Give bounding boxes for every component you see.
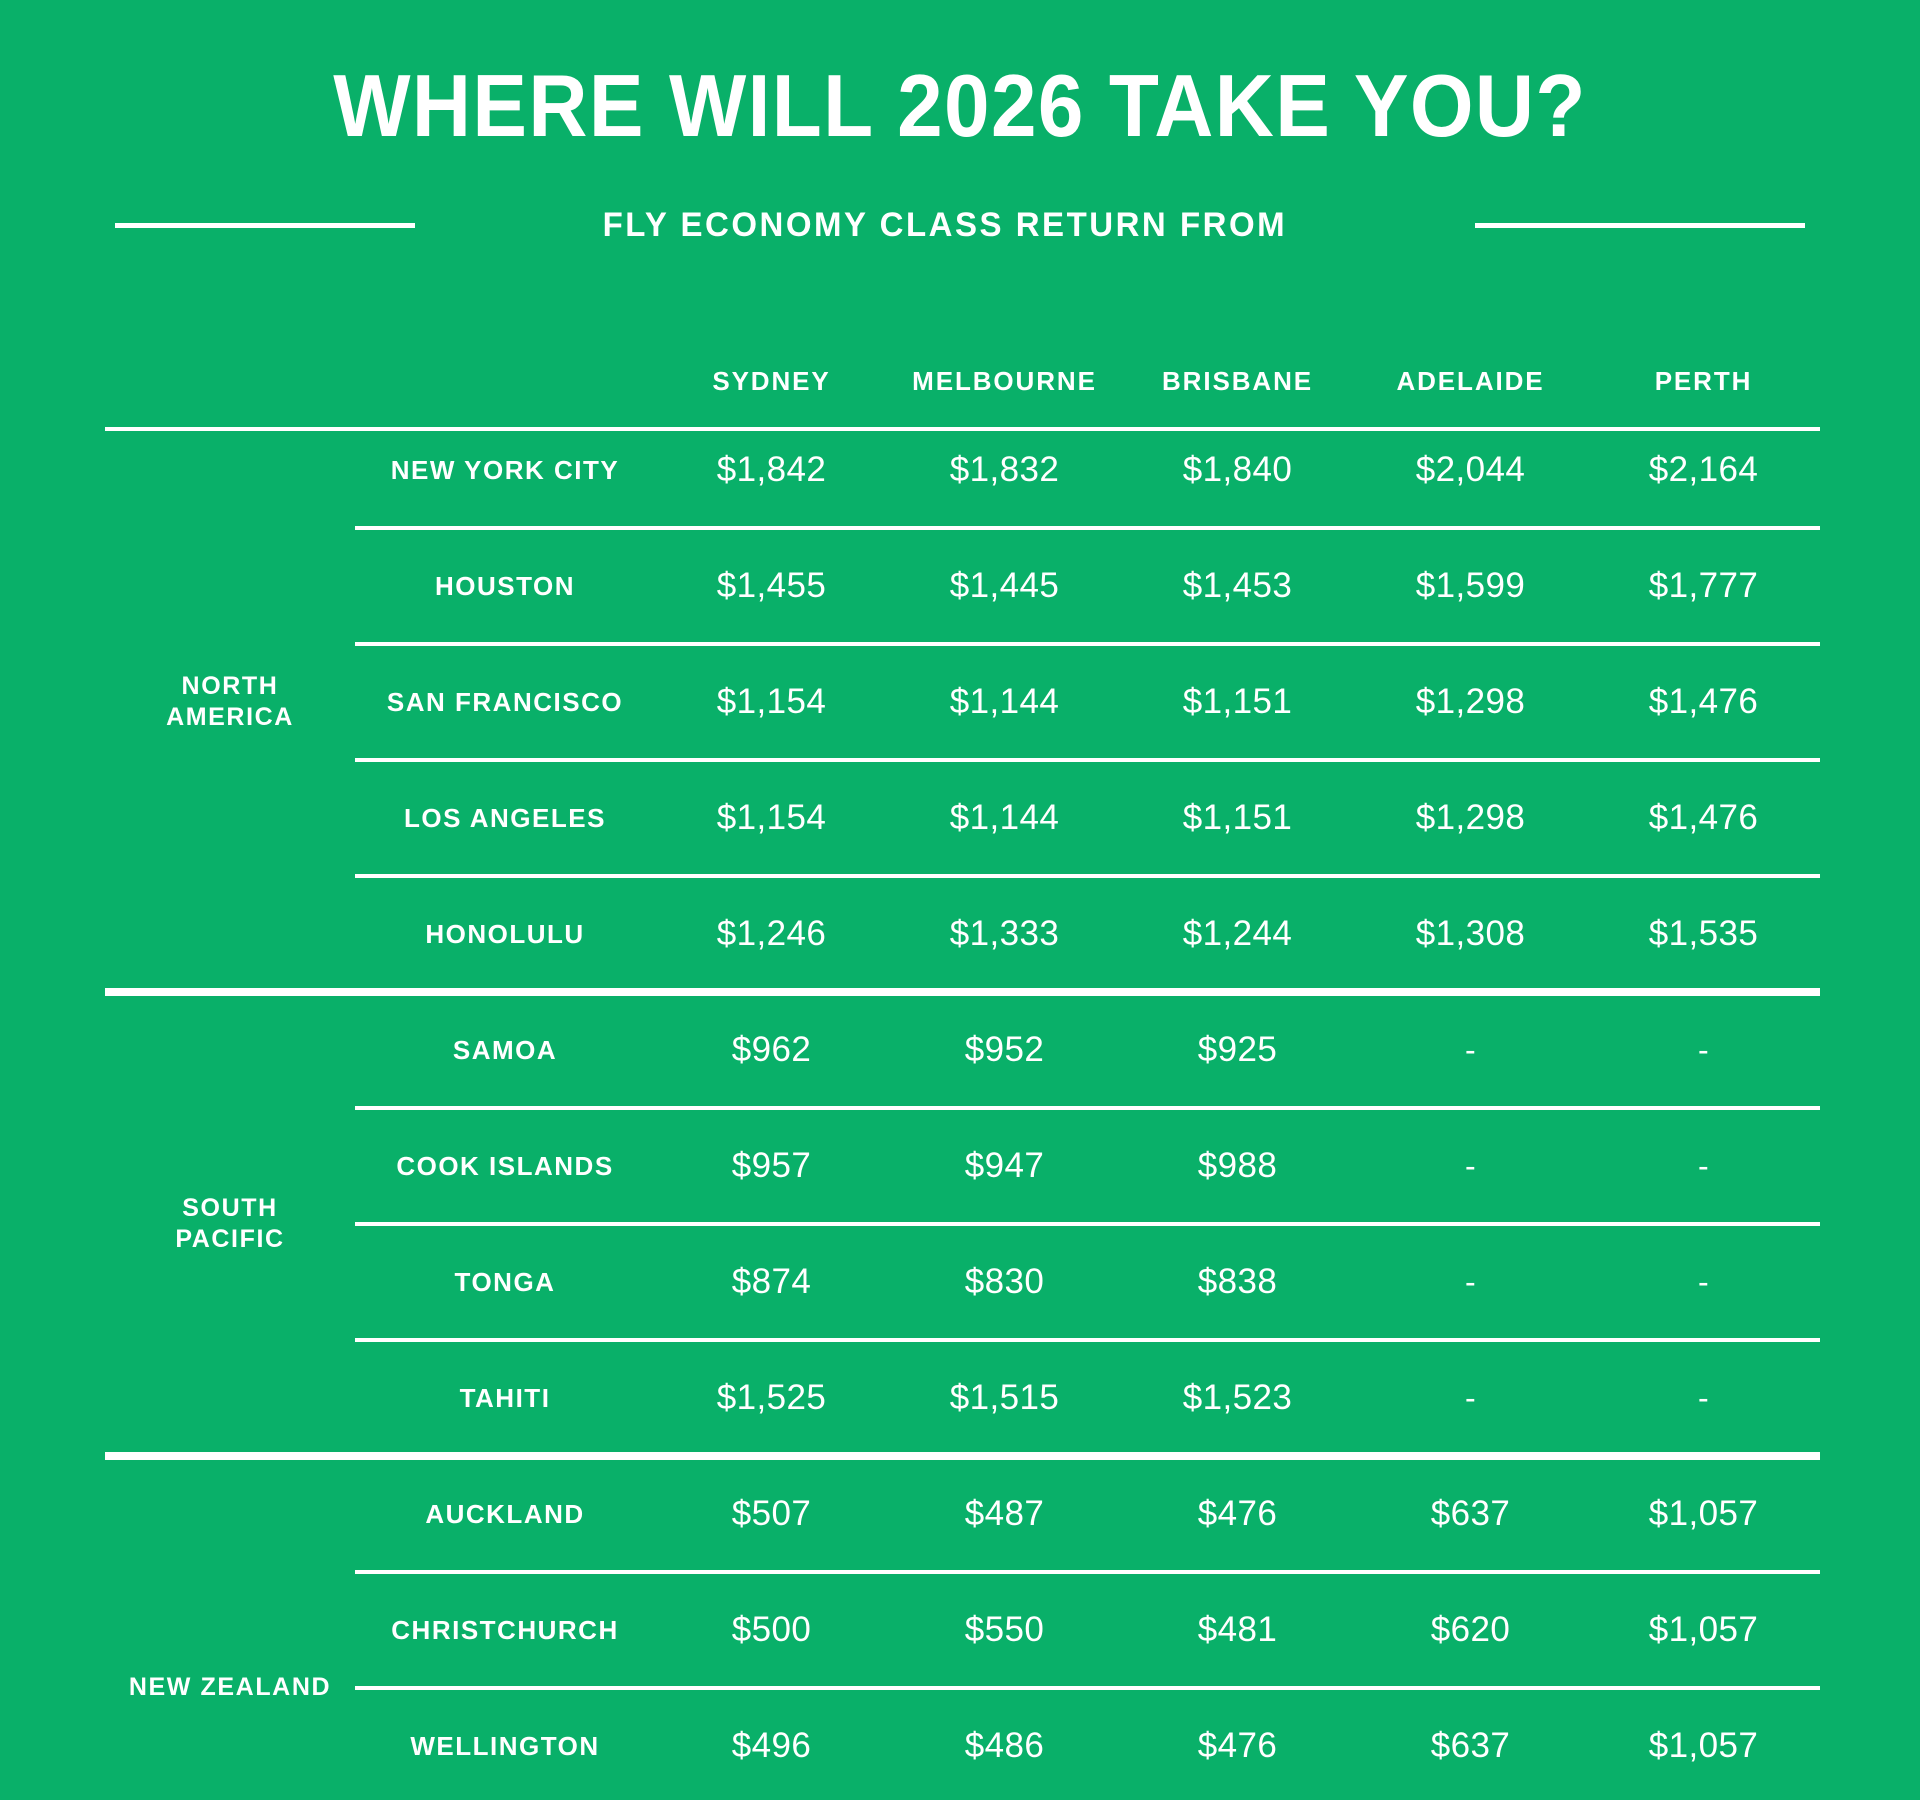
fare-price-brisbane: $988 — [1121, 1127, 1354, 1205]
fare-price-melbourne: $947 — [888, 1127, 1121, 1205]
table-row: HOUSTON$1,455$1,445$1,453$1,599$1,777 — [105, 547, 1820, 625]
fare-price-melbourne: $487 — [888, 1475, 1121, 1553]
poster-header: WHERE WILL 2026 TAKE YOU? FLY ECONOMY CL… — [0, 0, 1920, 245]
section-divider-row — [105, 1437, 1820, 1475]
fare-price-adelaide: - — [1354, 1127, 1587, 1205]
section-divider-cell — [105, 1437, 1820, 1475]
region-label-line: NORTH — [182, 672, 279, 700]
subtitle-rule-right — [1475, 223, 1805, 228]
region-label-line: AMERICA — [166, 703, 294, 731]
fare-price-sydney: $957 — [655, 1127, 888, 1205]
destination-name: TONGA — [355, 1243, 655, 1321]
column-header-brisbane: BRISBANE — [1121, 366, 1354, 427]
row-divider — [355, 1338, 1820, 1342]
row-divider — [355, 642, 1820, 646]
fare-price-adelaide: $1,308 — [1354, 895, 1587, 973]
row-divider — [355, 874, 1820, 878]
fare-price-perth: $1,777 — [1587, 547, 1820, 625]
destination-name: HONOLULU — [355, 895, 655, 973]
fare-price-perth: $1,057 — [1587, 1475, 1820, 1553]
row-divider — [355, 1686, 1820, 1690]
column-header-perth: PERTH — [1587, 366, 1820, 427]
fare-price-brisbane: $1,244 — [1121, 895, 1354, 973]
fare-price-adelaide: $2,044 — [1354, 431, 1587, 509]
fare-price-adelaide: - — [1354, 1011, 1587, 1089]
fare-price-sydney: $1,842 — [655, 431, 888, 509]
fare-price-melbourne: $1,515 — [888, 1359, 1121, 1437]
fare-price-sydney: $1,154 — [655, 779, 888, 857]
fare-price-melbourne: $830 — [888, 1243, 1121, 1321]
destination-name: LOS ANGELES — [355, 779, 655, 857]
region-label: NORTHAMERICA — [105, 431, 355, 973]
fare-price-brisbane: $1,151 — [1121, 663, 1354, 741]
region-label-line: PACIFIC — [175, 1225, 284, 1253]
destination-name: HOUSTON — [355, 547, 655, 625]
corner-cell-destination — [355, 366, 655, 427]
row-divider-row — [105, 625, 1820, 663]
fare-price-perth: $1,057 — [1587, 1707, 1820, 1785]
row-divider-cell — [355, 1321, 1820, 1359]
row-divider-row — [105, 1089, 1820, 1127]
fare-table-container: SYDNEY MELBOURNE BRISBANE ADELAIDE PERTH… — [105, 366, 1820, 1800]
row-divider — [355, 526, 1820, 530]
fare-price-melbourne: $1,333 — [888, 895, 1121, 973]
row-divider-row — [105, 1669, 1820, 1707]
table-row: NORTHAMERICANEW YORK CITY$1,842$1,832$1,… — [105, 431, 1820, 509]
table-row: COOK ISLANDS$957$947$988-- — [105, 1127, 1820, 1205]
fare-price-brisbane: $1,840 — [1121, 431, 1354, 509]
table-row: LOS ANGELES$1,154$1,144$1,151$1,298$1,47… — [105, 779, 1820, 857]
subtitle-text: FLY ECONOMY CLASS RETURN FROM — [579, 206, 1310, 245]
region-label: NEW ZEALAND — [105, 1475, 355, 1800]
row-divider — [355, 758, 1820, 762]
fare-price-adelaide: $637 — [1354, 1475, 1587, 1553]
row-divider — [355, 1570, 1820, 1574]
row-divider-cell — [355, 1089, 1820, 1127]
destination-name: SAN FRANCISCO — [355, 663, 655, 741]
row-divider-row — [105, 1205, 1820, 1243]
row-divider-row — [105, 1321, 1820, 1359]
fare-price-perth: - — [1587, 1127, 1820, 1205]
row-divider-cell — [355, 741, 1820, 779]
table-row: SAN FRANCISCO$1,154$1,144$1,151$1,298$1,… — [105, 663, 1820, 741]
row-divider-row — [105, 741, 1820, 779]
table-body: NORTHAMERICANEW YORK CITY$1,842$1,832$1,… — [105, 431, 1820, 1800]
fare-price-perth: - — [1587, 1359, 1820, 1437]
column-header-row: SYDNEY MELBOURNE BRISBANE ADELAIDE PERTH — [105, 366, 1820, 427]
fare-price-melbourne: $1,144 — [888, 663, 1121, 741]
destination-name: AUCKLAND — [355, 1475, 655, 1553]
fare-price-sydney: $1,246 — [655, 895, 888, 973]
section-divider-cell — [105, 973, 1820, 1011]
fare-price-perth: $1,057 — [1587, 1591, 1820, 1669]
corner-cell-region — [105, 366, 355, 427]
fare-price-adelaide: - — [1354, 1359, 1587, 1437]
row-divider-cell — [355, 1785, 1820, 1800]
fare-price-perth: $1,476 — [1587, 779, 1820, 857]
fare-price-sydney: $1,154 — [655, 663, 888, 741]
fare-price-melbourne: $550 — [888, 1591, 1121, 1669]
fare-price-adelaide: $1,298 — [1354, 779, 1587, 857]
fare-price-sydney: $1,455 — [655, 547, 888, 625]
fare-price-perth: $1,535 — [1587, 895, 1820, 973]
column-header-sydney: SYDNEY — [655, 366, 888, 427]
fare-price-brisbane: $476 — [1121, 1707, 1354, 1785]
fare-price-perth: $1,476 — [1587, 663, 1820, 741]
page-title: WHERE WILL 2026 TAKE YOU? — [67, 62, 1853, 150]
fare-price-adelaide: $620 — [1354, 1591, 1587, 1669]
fare-price-sydney: $500 — [655, 1591, 888, 1669]
fare-price-adelaide: $1,298 — [1354, 663, 1587, 741]
row-divider-cell — [355, 625, 1820, 663]
destination-name: SAMOA — [355, 1011, 655, 1089]
fare-price-sydney: $507 — [655, 1475, 888, 1553]
fare-price-brisbane: $476 — [1121, 1475, 1354, 1553]
fare-price-sydney: $496 — [655, 1707, 888, 1785]
table-head: SYDNEY MELBOURNE BRISBANE ADELAIDE PERTH — [105, 366, 1820, 431]
subtitle-row: FLY ECONOMY CLASS RETURN FROM — [115, 206, 1805, 245]
fare-price-melbourne: $486 — [888, 1707, 1121, 1785]
table-row: WELLINGTON$496$486$476$637$1,057 — [105, 1707, 1820, 1785]
fare-price-adelaide: $637 — [1354, 1707, 1587, 1785]
fare-table: SYDNEY MELBOURNE BRISBANE ADELAIDE PERTH… — [105, 366, 1820, 1800]
fare-price-brisbane: $1,453 — [1121, 547, 1354, 625]
destination-name: COOK ISLANDS — [355, 1127, 655, 1205]
row-divider — [355, 1222, 1820, 1226]
fare-price-perth: - — [1587, 1243, 1820, 1321]
subtitle-rule-left — [115, 223, 415, 228]
fare-price-adelaide: - — [1354, 1243, 1587, 1321]
fare-price-brisbane: $481 — [1121, 1591, 1354, 1669]
fare-price-adelaide: $1,599 — [1354, 547, 1587, 625]
fare-price-sydney: $962 — [655, 1011, 888, 1089]
fare-table-poster: WHERE WILL 2026 TAKE YOU? FLY ECONOMY CL… — [0, 0, 1920, 1800]
column-header-melbourne: MELBOURNE — [888, 366, 1121, 427]
region-label: SOUTHPACIFIC — [105, 1011, 355, 1437]
fare-price-perth: $2,164 — [1587, 431, 1820, 509]
region-label-line: NEW ZEALAND — [129, 1673, 331, 1701]
section-divider — [105, 1452, 1820, 1460]
destination-name: CHRISTCHURCH — [355, 1591, 655, 1669]
fare-price-brisbane: $925 — [1121, 1011, 1354, 1089]
row-divider-cell — [355, 1669, 1820, 1707]
section-divider — [105, 988, 1820, 996]
section-divider-row — [105, 973, 1820, 1011]
column-header-adelaide: ADELAIDE — [1354, 366, 1587, 427]
region-label-line: SOUTH — [182, 1194, 278, 1222]
row-divider-row — [105, 509, 1820, 547]
row-divider-cell — [355, 509, 1820, 547]
row-divider-cell — [355, 857, 1820, 895]
fare-price-sydney: $874 — [655, 1243, 888, 1321]
fare-price-melbourne: $952 — [888, 1011, 1121, 1089]
fare-price-brisbane: $1,151 — [1121, 779, 1354, 857]
destination-name: WELLINGTON — [355, 1707, 655, 1785]
destination-name: TAHITI — [355, 1359, 655, 1437]
table-row: CHRISTCHURCH$500$550$481$620$1,057 — [105, 1591, 1820, 1669]
fare-price-melbourne: $1,445 — [888, 547, 1121, 625]
fare-price-brisbane: $1,523 — [1121, 1359, 1354, 1437]
table-row: NEW ZEALANDAUCKLAND$507$487$476$637$1,05… — [105, 1475, 1820, 1553]
row-divider-cell — [355, 1205, 1820, 1243]
fare-price-sydney: $1,525 — [655, 1359, 888, 1437]
table-row: HONOLULU$1,246$1,333$1,244$1,308$1,535 — [105, 895, 1820, 973]
fare-price-melbourne: $1,144 — [888, 779, 1121, 857]
fare-price-perth: - — [1587, 1011, 1820, 1089]
table-row: SOUTHPACIFICSAMOA$962$952$925-- — [105, 1011, 1820, 1089]
row-divider — [355, 1106, 1820, 1110]
destination-name: NEW YORK CITY — [355, 431, 655, 509]
table-row: TAHITI$1,525$1,515$1,523-- — [105, 1359, 1820, 1437]
row-divider-row — [105, 857, 1820, 895]
fare-price-melbourne: $1,832 — [888, 431, 1121, 509]
table-row: TONGA$874$830$838-- — [105, 1243, 1820, 1321]
row-divider-row — [105, 1785, 1820, 1800]
row-divider-row — [105, 1553, 1820, 1591]
fare-price-brisbane: $838 — [1121, 1243, 1354, 1321]
row-divider-cell — [355, 1553, 1820, 1591]
